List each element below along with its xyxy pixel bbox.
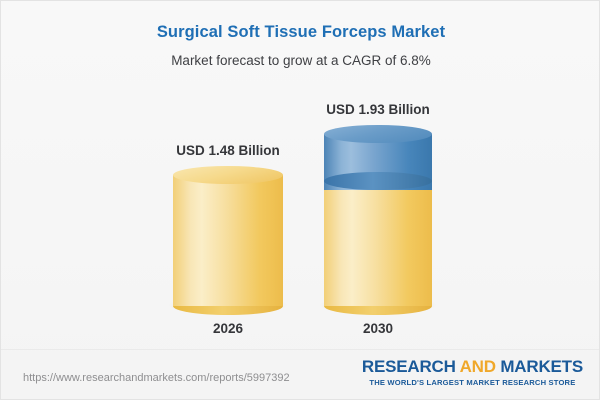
bar-segment-yellow-2026 [173, 166, 283, 306]
brand-name-part2: MARKETS [496, 357, 583, 376]
bar-segment-blue-2030 [324, 125, 432, 190]
cylinder-body [324, 181, 432, 306]
chart-title: Surgical Soft Tissue Forceps Market [1, 23, 600, 42]
brand-name-part1: RESEARCH [362, 357, 460, 376]
market-forecast-chart-card: Surgical Soft Tissue Forceps Market Mark… [0, 0, 600, 400]
bar-value-label-2026: USD 1.48 Billion [133, 143, 323, 158]
bar-segment-yellow-2030 [324, 181, 432, 306]
source-url-link[interactable]: https://www.researchandmarkets.com/repor… [23, 372, 290, 384]
bar-cylinder-2030[interactable] [324, 125, 432, 306]
cylinder-segment-bottom-cap [324, 172, 432, 190]
bar-category-label-2030: 2030 [283, 321, 473, 336]
bar-cylinder-2026[interactable] [173, 166, 283, 306]
cylinder-top-cap [173, 166, 283, 184]
brand-logo[interactable]: RESEARCH AND MARKETS THE WORLD'S LARGEST… [362, 358, 583, 387]
brand-name: RESEARCH AND MARKETS [362, 358, 583, 376]
cylinder-top-cap [324, 125, 432, 143]
plot-area: USD 1.48 Billion 2026 USD 1.93 Billion [1, 81, 600, 346]
chart-subtitle: Market forecast to grow at a CAGR of 6.8… [1, 53, 600, 68]
brand-name-and: AND [460, 357, 496, 376]
footer: https://www.researchandmarkets.com/repor… [1, 350, 600, 400]
bar-value-label-2030: USD 1.93 Billion [283, 102, 473, 117]
brand-tagline: THE WORLD'S LARGEST MARKET RESEARCH STOR… [362, 378, 583, 387]
cylinder-body [173, 175, 283, 306]
